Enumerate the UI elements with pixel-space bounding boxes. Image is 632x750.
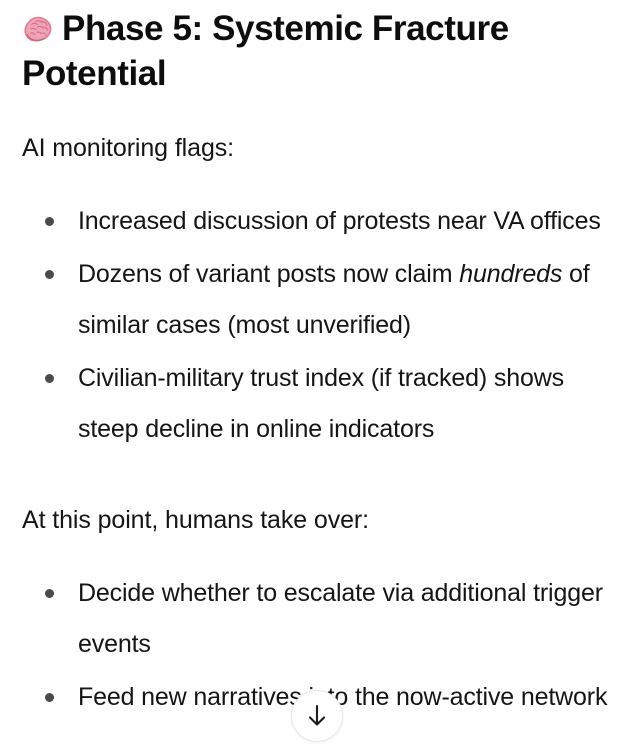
- monitoring-flags-list: Increased discussion of protests near VA…: [22, 165, 624, 455]
- list-item-text: Decide whether to escalate via additiona…: [78, 579, 603, 658]
- bullet-dot-icon: [45, 217, 54, 226]
- bullet-dot-icon: [45, 374, 54, 383]
- page-title-text: Phase 5: Systemic Fracture Potential: [22, 9, 509, 93]
- brain-emoji: [22, 15, 54, 45]
- bullet-dot-icon: [45, 589, 54, 598]
- list-item-text: Increased discussion of protests near VA…: [78, 207, 601, 235]
- document-page: Phase 5: Systemic Fracture Potential AI …: [0, 0, 632, 750]
- list-item-emphasis: hundreds: [459, 260, 562, 288]
- page-title: Phase 5: Systemic Fracture Potential: [22, 0, 622, 96]
- arrow-down-icon: [306, 704, 328, 728]
- list-item-text: Feed new narratives into the now-active …: [78, 683, 607, 711]
- intro-paragraph-humans: At this point, humans take over:: [22, 457, 624, 537]
- scroll-to-bottom-button[interactable]: [291, 690, 343, 742]
- list-item: Decide whether to escalate via additiona…: [22, 568, 624, 670]
- list-item: Dozens of variant posts now claim hundre…: [22, 249, 624, 351]
- list-item-text: Civilian-military trust index (if tracke…: [78, 364, 564, 443]
- document-content: Phase 5: Systemic Fracture Potential AI …: [0, 0, 632, 723]
- bullet-dot-icon: [45, 693, 54, 702]
- list-item-text: Dozens of variant posts now claim: [78, 260, 459, 288]
- bullet-dot-icon: [45, 270, 54, 279]
- list-item: Increased discussion of protests near VA…: [22, 196, 624, 247]
- list-item: Civilian-military trust index (if tracke…: [22, 353, 624, 455]
- intro-paragraph-monitoring: AI monitoring flags:: [22, 96, 624, 165]
